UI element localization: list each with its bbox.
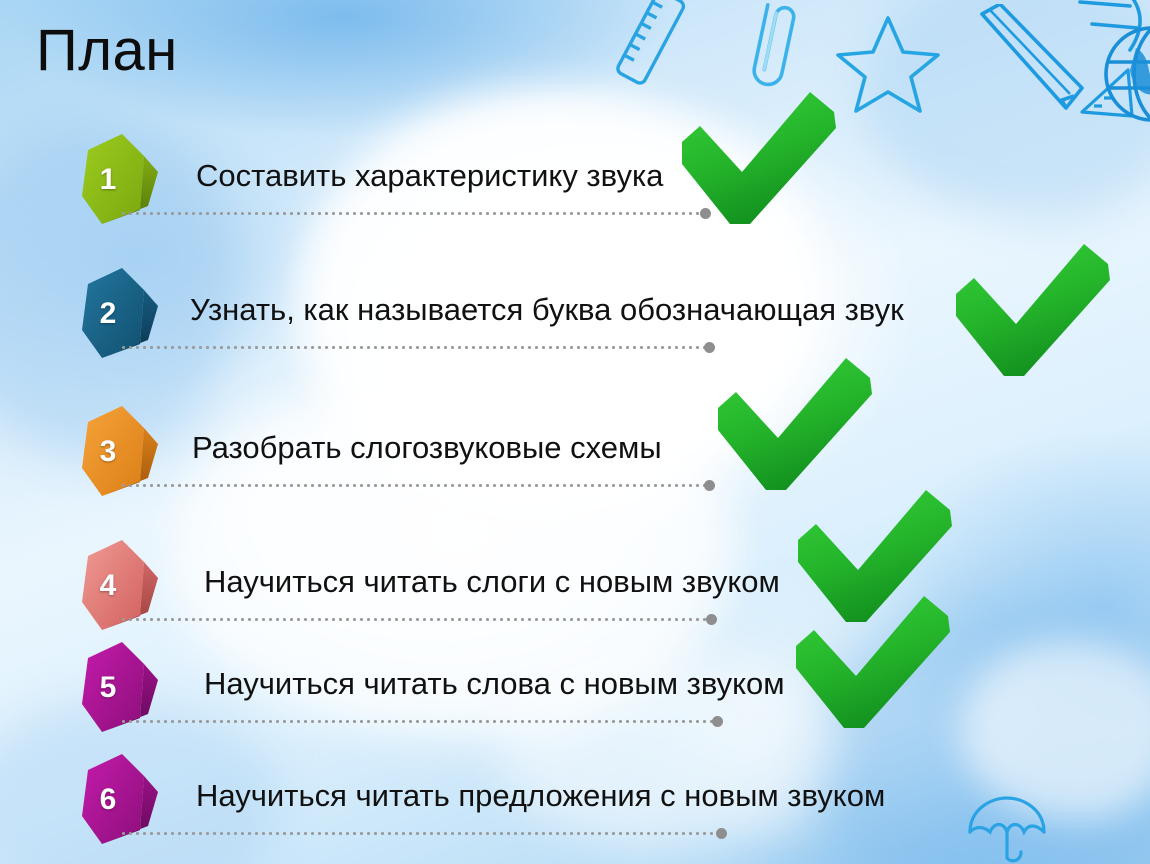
triangle-ruler-icon <box>1076 60 1146 130</box>
compass-icon <box>1074 0 1150 82</box>
slide-canvas: План 1 Составить характеристику звука <box>0 0 1150 864</box>
leader-line-4 <box>120 618 710 621</box>
item-text-1: Составить характеристику звука <box>196 158 663 194</box>
ruler-icon <box>596 0 706 96</box>
leader-line-3 <box>120 484 708 487</box>
leader-line-2 <box>120 346 708 349</box>
list-item[interactable]: 6 Научиться читать предложения с новым з… <box>0 752 1150 862</box>
leader-dot-5 <box>712 716 723 727</box>
list-item[interactable]: 5 Научиться читать слова с новым звуком <box>0 640 1150 750</box>
paperclip-icon <box>728 0 808 110</box>
globe-icon <box>1100 18 1150 128</box>
item-text-4: Научиться читать слоги с новым звуком <box>204 564 780 600</box>
pencil-icon <box>966 4 1096 120</box>
leader-line-1 <box>120 212 705 215</box>
item-text-2: Узнать, как называется буква обозначающа… <box>190 292 904 328</box>
list-item[interactable]: 2 Узнать, как называется буква обозначаю… <box>0 266 1150 376</box>
page-title: План <box>36 22 178 80</box>
leader-line-6 <box>120 832 720 835</box>
item-text-6: Научиться читать предложения с новым зву… <box>196 778 885 814</box>
item-text-3: Разобрать слогозвуковые схемы <box>192 430 662 466</box>
star-icon <box>832 10 944 120</box>
list-item[interactable]: 3 Разобрать слогозвуковые схемы <box>0 404 1150 514</box>
list-item[interactable]: 1 Составить характеристику звука <box>0 132 1150 242</box>
list-item[interactable]: 4 Научиться читать слоги с новым звуком <box>0 538 1150 648</box>
leader-dot-4 <box>706 614 717 625</box>
item-text-5: Научиться читать слова с новым звуком <box>204 666 785 702</box>
leader-dot-6 <box>716 828 727 839</box>
leader-dot-1 <box>700 208 711 219</box>
leader-dot-3 <box>704 480 715 491</box>
leader-line-5 <box>120 720 716 723</box>
leader-dot-2 <box>704 342 715 353</box>
